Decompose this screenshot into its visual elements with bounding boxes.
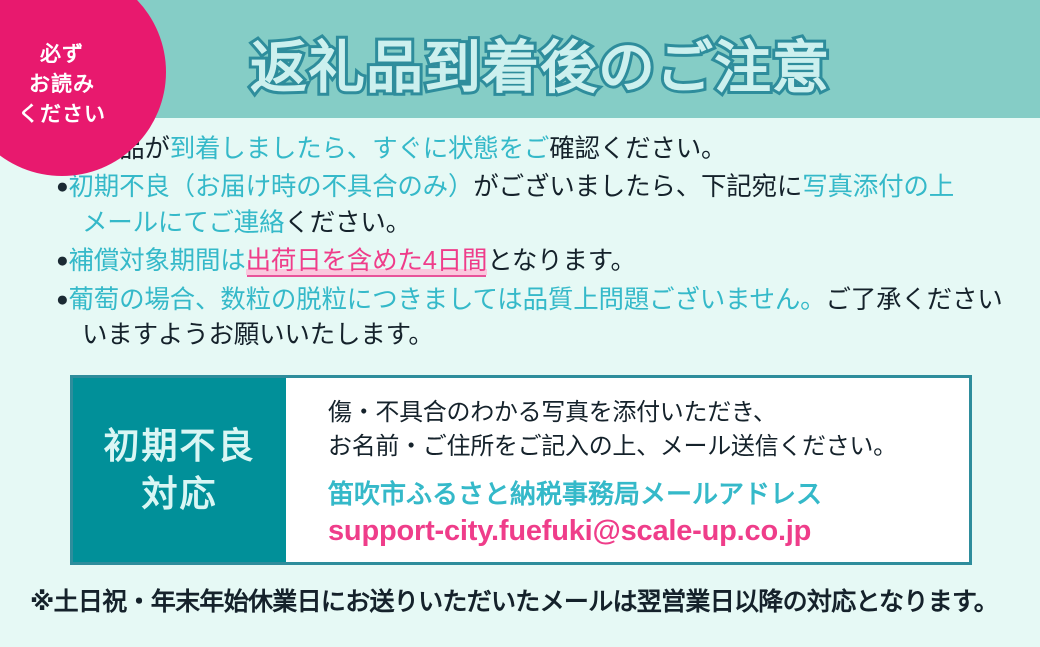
notice-text-segment: メールにてご連絡	[82, 209, 284, 237]
instruction-line-2: お名前・ご住所をご記入の上、メール送信ください。	[328, 430, 969, 464]
initial-defect-label-line-1: 初期不良	[103, 422, 255, 470]
notice-text-segment: となります。	[487, 247, 636, 275]
mail-address-label: 笛吹市ふるさと納税事務局メールアドレス	[328, 474, 969, 511]
bullet-icon: ●	[56, 249, 68, 272]
notice-text-segment: ください。	[284, 209, 411, 237]
notice-text-segment: 初期不良（お届け時の不具合のみ）	[68, 173, 473, 201]
notice-text-segment: 到着しましたら、すぐに状態をご	[170, 135, 550, 163]
initial-defect-details: 傷・不具合のわかる写真を添付いただき、 お名前・ご住所をご記入の上、メール送信く…	[286, 378, 969, 562]
badge-line-3: ください	[18, 100, 106, 130]
mail-address-value[interactable]: support-city.fuefuki@scale-up.co.jp	[328, 515, 969, 548]
bullet-icon: ●	[56, 175, 68, 198]
notice-item: ●初期不良（お届け時の不具合のみ）がございましたら、下記宛に写真添付の上メールに…	[0, 170, 1040, 241]
badge-line-1: 必ず	[40, 40, 84, 70]
initial-defect-response-box: 初期不良 対応 傷・不具合のわかる写真を添付いただき、 お名前・ご住所をご記入の…	[70, 375, 972, 565]
notice-item: ●補償対象期間は出荷日を含めた4日間となります。	[0, 244, 1040, 279]
notice-text-segment: 出荷日を含めた4日間	[246, 247, 488, 275]
badge-line-2: お読み	[29, 70, 95, 100]
instruction-line-1: 傷・不具合のわかる写真を添付いただき、	[328, 396, 969, 430]
notice-text-segment: がございましたら、下記宛に	[473, 173, 802, 201]
notice-text-segment: 確認ください。	[549, 135, 726, 163]
initial-defect-label: 初期不良 対応	[73, 378, 286, 562]
notice-text-segment: 補償対象期間は	[68, 247, 245, 275]
page-title: 返礼品到着後のご注意	[250, 22, 830, 104]
notice-text-segment: いますようお願いいたします。	[82, 321, 434, 349]
notice-text-segment: 葡萄の場合、数粒の脱粒につきましては品質上問題ございません。	[68, 286, 825, 314]
notice-text-segment: 写真添付の上	[802, 173, 954, 201]
notice-item: ●葡萄の場合、数粒の脱粒につきましては品質上問題ございません。ご了承くださいいま…	[0, 283, 1040, 354]
bullet-icon: ●	[56, 288, 68, 311]
notice-text-segment: ご了承ください	[825, 286, 1002, 314]
must-read-badge: 必ず お読み ください	[0, 0, 166, 176]
footer-note: ※土日祝・年末年始休業日にお送りいただいたメールは翌営業日以降の対応となります。	[30, 582, 1020, 618]
initial-defect-label-line-2: 対応	[141, 470, 217, 518]
